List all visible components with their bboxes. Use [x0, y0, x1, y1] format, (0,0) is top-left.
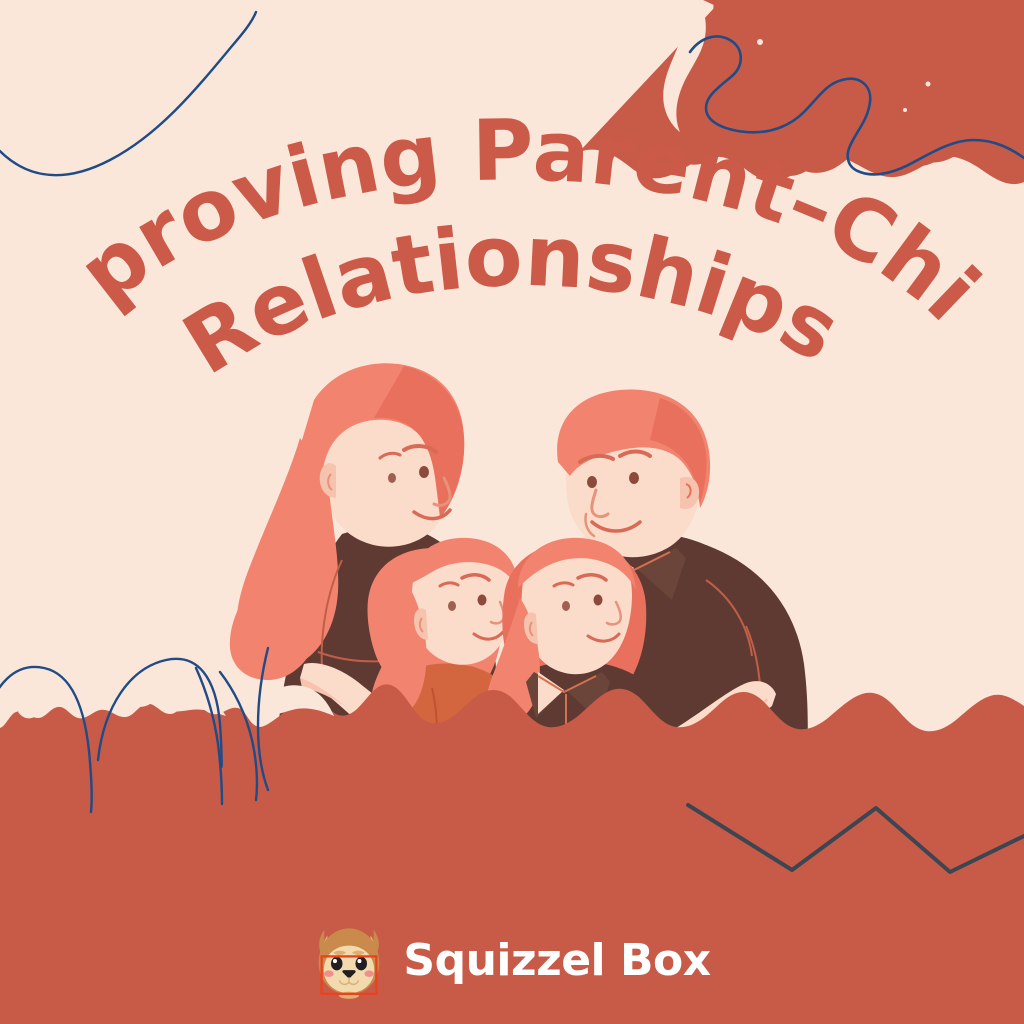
squirrel-icon: [313, 924, 385, 998]
social-post-canvas: Improving Parent–Child Relationships: [0, 0, 1024, 1024]
title-block: Improving Parent–Child Relationships: [0, 0, 1024, 1024]
brand-name: Squizzel Box: [403, 939, 710, 983]
brand-footer: Squizzel Box: [0, 924, 1024, 998]
